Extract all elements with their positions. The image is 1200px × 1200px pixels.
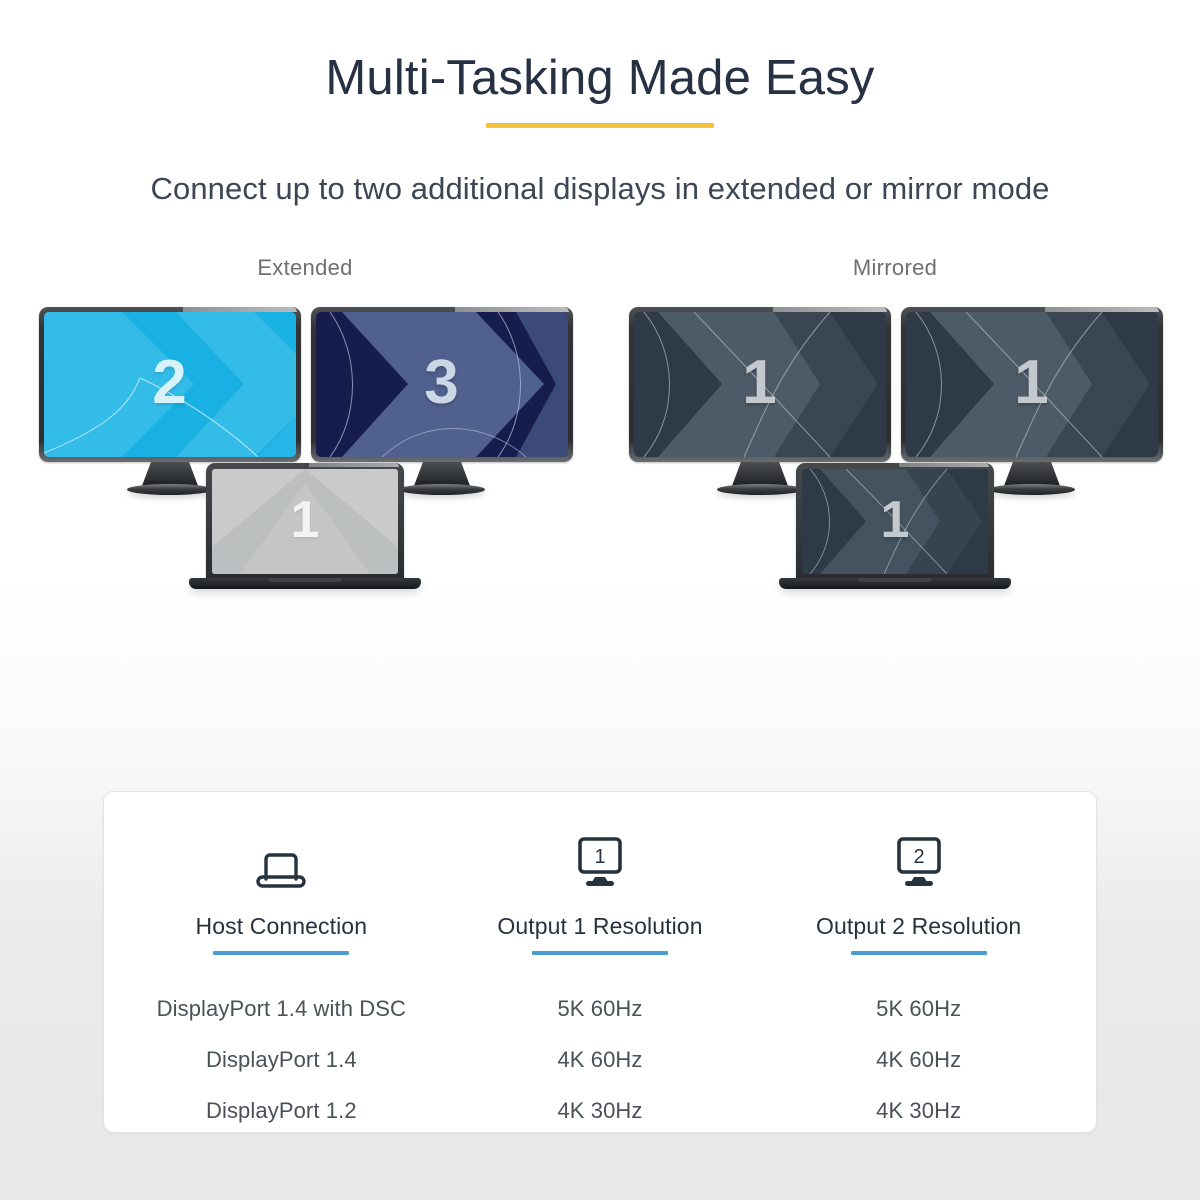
monitor-icon-glyph: 2 (891, 836, 947, 890)
slate-wallpaper-icon (634, 312, 886, 457)
laptop-extended: 1 (189, 463, 421, 591)
laptop-icon-glyph (253, 846, 309, 890)
title-accent-rule (486, 123, 714, 128)
monitor-bezel: 1 (901, 307, 1163, 462)
laptop-screen-number: 1 (212, 490, 398, 550)
monitor-icon-glyph: 1 (572, 836, 628, 890)
laptop-icon (122, 824, 441, 890)
spec-column-output2: 2 Output 2 Resolution (759, 824, 1078, 955)
laptop-lid: 1 (206, 463, 404, 581)
navy-wallpaper-icon (316, 312, 568, 457)
display-mode-diagram: Extended 2 (0, 255, 1200, 655)
monitor-icon: 1 (441, 824, 760, 890)
monitor-icon-badge: 1 (594, 846, 605, 868)
extended-mode-group: Extended 2 (30, 255, 580, 497)
mirrored-mode-group: Mirrored 1 (620, 255, 1170, 497)
laptop-screen: 1 (212, 469, 398, 574)
slate-wallpaper-icon (906, 312, 1158, 457)
spec-column-rule (851, 951, 987, 955)
monitor-bezel: 3 (311, 307, 573, 462)
cyan-wallpaper-icon (44, 312, 296, 457)
spec-column-rule (213, 951, 349, 955)
page-subtitle: Connect up to two additional displays in… (0, 171, 1200, 207)
cell-output1: 4K 60Hz (441, 1047, 760, 1073)
laptop-lid: 1 (796, 463, 994, 581)
table-row: DisplayPort 1.2 4K 30Hz 4K 30Hz (104, 1085, 1096, 1136)
spec-column-rule (532, 951, 668, 955)
cell-host: DisplayPort 1.4 with DSC (122, 996, 441, 1022)
spec-column-host: Host Connection (122, 824, 441, 955)
spec-table-body: DisplayPort 1.4 with DSC 5K 60Hz 5K 60Hz… (104, 983, 1096, 1136)
spec-table-card: Host Connection 1 Output 1 Resolution (103, 791, 1097, 1133)
cell-output2: 4K 60Hz (759, 1047, 1078, 1073)
monitor-stand-neck (1004, 462, 1060, 486)
monitor-screen: 1 (906, 312, 1158, 457)
spec-column-header: Host Connection (122, 913, 441, 940)
laptop-trackpad-notch (858, 578, 932, 582)
monitor-bezel: 1 (629, 307, 891, 462)
page-header: Multi-Tasking Made Easy Connect up to tw… (0, 0, 1200, 207)
mirrored-mode-label: Mirrored (620, 255, 1170, 285)
cell-host: DisplayPort 1.4 (122, 1047, 441, 1073)
spec-column-header: Output 1 Resolution (441, 913, 760, 940)
page-title: Multi-Tasking Made Easy (0, 52, 1200, 106)
extended-mode-label: Extended (30, 255, 580, 285)
laptop-trackpad-notch (268, 578, 342, 582)
monitor-icon-badge: 2 (913, 846, 924, 868)
cell-output2: 4K 30Hz (759, 1098, 1078, 1124)
spec-table-header-row: Host Connection 1 Output 1 Resolution (104, 792, 1096, 955)
monitor-icon: 2 (759, 824, 1078, 890)
monitor-screen: 1 (634, 312, 886, 457)
cell-output1: 4K 30Hz (441, 1098, 760, 1124)
monitor-bezel: 2 (39, 307, 301, 462)
table-row: DisplayPort 1.4 with DSC 5K 60Hz 5K 60Hz (104, 983, 1096, 1034)
laptop-screen-number: 1 (802, 490, 988, 550)
laptop-screen: 1 (802, 469, 988, 574)
cell-output1: 5K 60Hz (441, 996, 760, 1022)
spec-column-header: Output 2 Resolution (759, 913, 1078, 940)
cell-output2: 5K 60Hz (759, 996, 1078, 1022)
table-row: DisplayPort 1.4 4K 60Hz 4K 60Hz (104, 1034, 1096, 1085)
spec-column-output1: 1 Output 1 Resolution (441, 824, 760, 955)
monitor-screen: 2 (44, 312, 296, 457)
monitor-stand-neck (414, 462, 470, 486)
laptop-mirrored: 1 (779, 463, 1011, 591)
cell-host: DisplayPort 1.2 (122, 1098, 441, 1124)
monitor-screen: 3 (316, 312, 568, 457)
